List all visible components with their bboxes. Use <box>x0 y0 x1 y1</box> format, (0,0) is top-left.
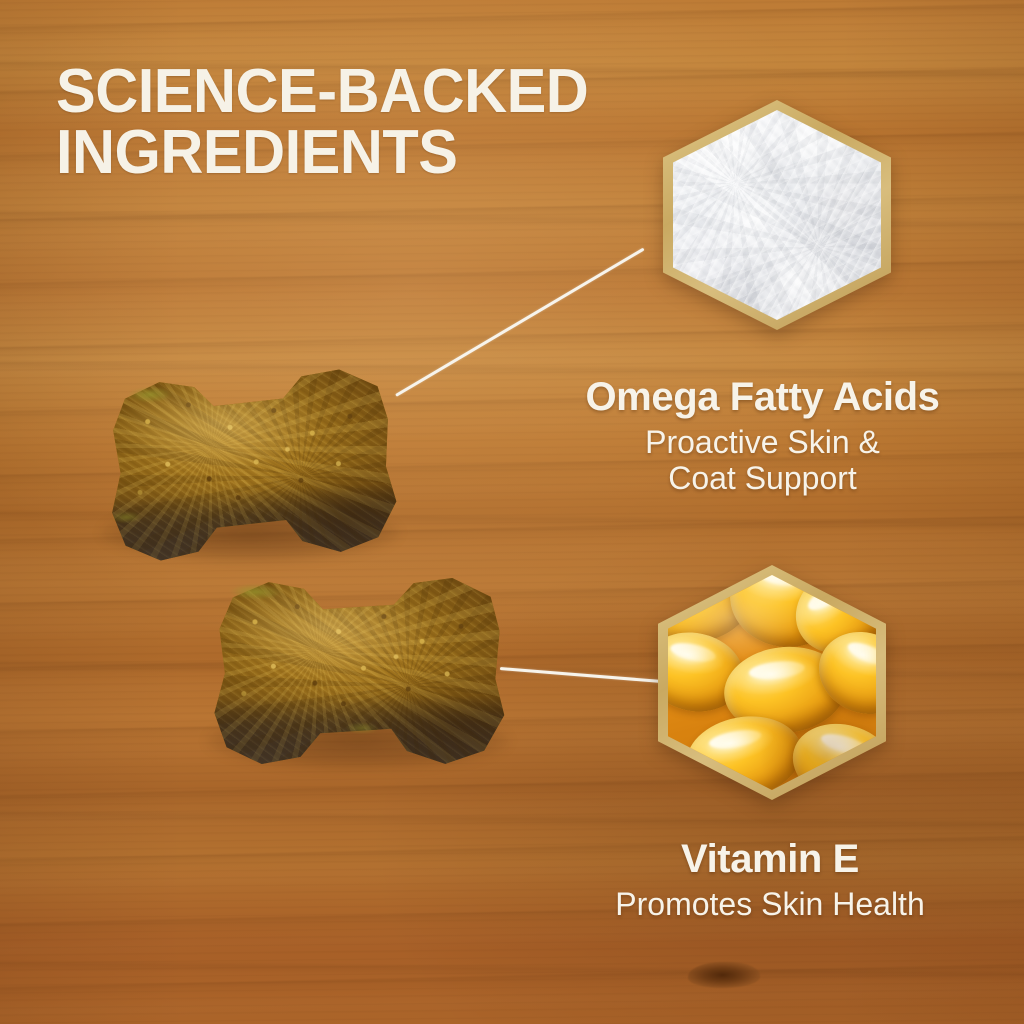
herb-fleck-icon <box>345 722 379 735</box>
bone-biscuit-icon <box>89 364 410 568</box>
white-powder-hexagon-icon <box>673 110 881 320</box>
headline-line-2: INGREDIENTS <box>56 123 670 184</box>
hexagon-inner-clip <box>668 575 876 790</box>
powder-highlight-texture <box>673 110 881 320</box>
ingredient-label-omega: Omega Fatty Acids Proactive Skin & Coat … <box>510 376 1015 497</box>
ingredient-subtitle-vitamin-e-line1: Promotes Skin Health <box>615 886 924 922</box>
ingredient-title-omega: Omega Fatty Acids <box>510 376 1015 418</box>
ingredient-subtitle-omega: Proactive Skin & Coat Support <box>510 424 1015 497</box>
ingredient-badge-omega <box>663 100 891 330</box>
headline-line-1: SCIENCE-BACKED <box>56 57 588 126</box>
wood-knot-icon <box>688 962 760 988</box>
page-title: SCIENCE-BACKED INGREDIENTS <box>56 62 670 184</box>
ingredient-badge-vitamin-e <box>658 565 886 800</box>
amber-softgel-capsules-hexagon-icon <box>668 575 876 790</box>
dog-treat-bottom <box>196 572 518 772</box>
bone-body <box>194 569 520 776</box>
bone-biscuit-icon <box>194 569 520 776</box>
ingredient-title-vitamin-e: Vitamin E <box>540 838 1000 880</box>
ingredient-subtitle-omega-line1: Proactive Skin & <box>645 424 880 460</box>
ingredient-label-vitamin-e: Vitamin E Promotes Skin Health <box>540 838 1000 922</box>
dog-treat-top <box>92 368 408 564</box>
bone-sheen <box>194 569 520 776</box>
infographic-canvas: SCIENCE-BACKED INGREDIENTS <box>0 0 1024 1024</box>
hexagon-inner-clip <box>673 110 881 320</box>
ingredient-subtitle-omega-line2: Coat Support <box>668 460 857 496</box>
ingredient-subtitle-vitamin-e: Promotes Skin Health <box>540 886 1000 922</box>
